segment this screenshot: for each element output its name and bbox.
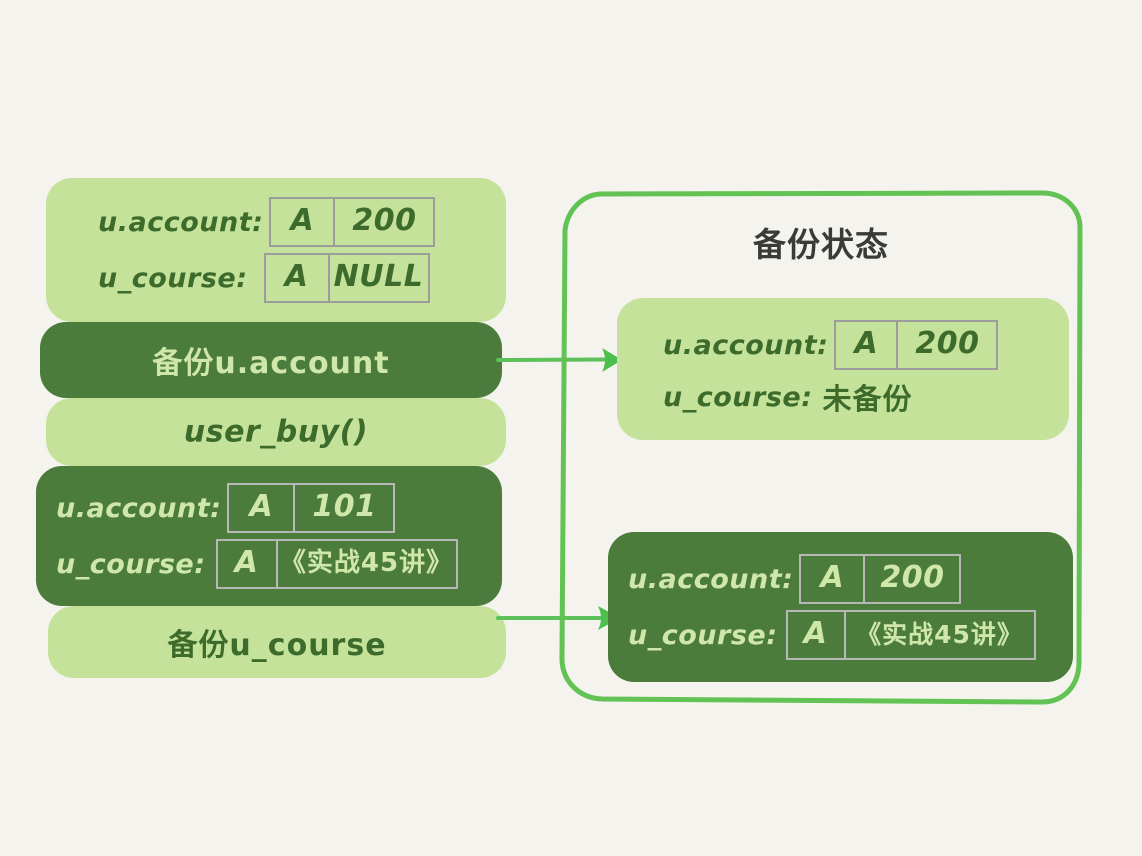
bar-backup-course-label: 备份u_course xyxy=(48,620,506,664)
value-table: A 200 xyxy=(269,197,435,247)
table-row: u_course: A NULL xyxy=(46,253,506,303)
row-label-u-course: u_course: xyxy=(56,549,206,580)
table-row: u_course: A 《实战45讲》 xyxy=(608,610,1073,660)
row-label-u-account: u.account: xyxy=(56,493,221,524)
cell-key: A xyxy=(836,322,896,368)
table-row: u.account: A 200 xyxy=(617,320,1069,370)
bar-modified-state-content: u.account: A 101 u_course: A 《实战45讲》 xyxy=(36,483,502,589)
bar-initial-state: u.account: A 200 u_course: A NULL xyxy=(46,178,506,322)
backup-box-full: u.account: A 200 u_course: A 《实战45讲》 xyxy=(608,532,1073,682)
cell-key: A xyxy=(788,612,844,658)
value-table: A 《实战45讲》 xyxy=(786,610,1036,660)
cell-key: A xyxy=(801,556,863,602)
row-label-u-account: u.account: xyxy=(628,564,793,595)
value-table: A 《实战45讲》 xyxy=(216,539,458,589)
backup-box-partial: u.account: A 200 u_course: 未备份 xyxy=(617,298,1069,440)
row-label-u-course: u_course: xyxy=(98,263,248,294)
backup-box-full-content: u.account: A 200 u_course: A 《实战45讲》 xyxy=(608,554,1073,660)
cell-value: 《实战45讲》 xyxy=(276,541,456,587)
row-label-u-account: u.account: xyxy=(663,330,828,361)
page-title: 备份状态 xyxy=(556,218,1086,266)
cell-value: NULL xyxy=(328,255,428,301)
value-table: A NULL xyxy=(264,253,430,303)
table-row: u_course: 未备份 xyxy=(617,376,1069,418)
row-label-u-course: u_course: xyxy=(663,382,813,413)
cell-key: A xyxy=(271,199,333,245)
cell-value: 101 xyxy=(293,485,393,531)
cell-key: A xyxy=(266,255,328,301)
cell-value: 200 xyxy=(863,556,959,602)
bar-backup-account-label: 备份u.account xyxy=(40,338,502,382)
bar-modified-state: u.account: A 101 u_course: A 《实战45讲》 xyxy=(36,466,502,606)
value-table: A 200 xyxy=(834,320,998,370)
bar-backup-account: 备份u.account xyxy=(40,322,502,398)
cell-value: 《实战45讲》 xyxy=(844,612,1034,658)
bar-initial-state-content: u.account: A 200 u_course: A NULL xyxy=(46,197,506,303)
bar-user-buy: user_buy() xyxy=(46,398,506,466)
row-value-not-backed-up: 未备份 xyxy=(823,376,913,418)
bar-user-buy-label: user_buy() xyxy=(46,415,506,450)
bar-backup-course: 备份u_course xyxy=(48,606,506,678)
cell-key: A xyxy=(229,485,293,531)
cell-value: 200 xyxy=(333,199,433,245)
table-row: u.account: A 101 xyxy=(36,483,502,533)
cell-value: 200 xyxy=(896,322,996,368)
row-label-u-account: u.account: xyxy=(98,207,263,238)
row-label-u-course: u_course: xyxy=(628,620,778,651)
value-table: A 200 xyxy=(799,554,961,604)
diagram-canvas: u.account: A 200 u_course: A NULL 备份u.ac… xyxy=(0,0,1142,856)
cell-key: A xyxy=(218,541,276,587)
table-row: u_course: A 《实战45讲》 xyxy=(36,539,502,589)
backup-state-panel: 备份状态 u.account: A 200 u_course: 未备份 xyxy=(556,186,1086,708)
table-row: u.account: A 200 xyxy=(46,197,506,247)
backup-box-partial-content: u.account: A 200 u_course: 未备份 xyxy=(617,320,1069,418)
table-row: u.account: A 200 xyxy=(608,554,1073,604)
value-table: A 101 xyxy=(227,483,395,533)
